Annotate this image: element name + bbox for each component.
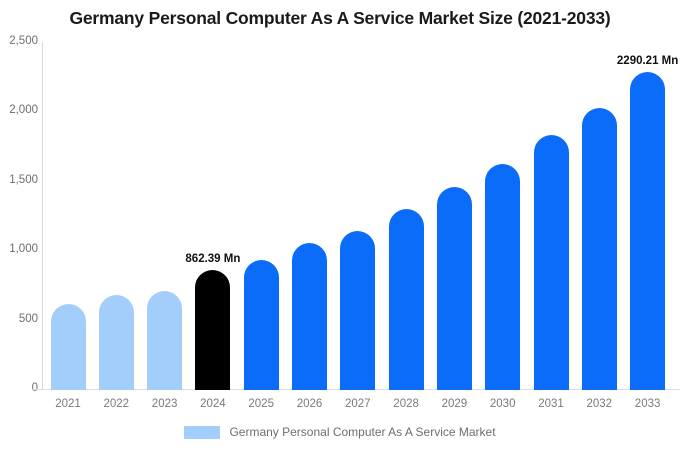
bar-2030[interactable] xyxy=(485,164,520,390)
legend-swatch-icon xyxy=(184,426,220,439)
y-axis-tick-label: 500 xyxy=(2,314,38,326)
y-axis-tick-label: 2,500 xyxy=(2,36,38,48)
bar-slot xyxy=(437,43,472,390)
plot-area: 862.39 Mn2290.21 Mn xyxy=(42,42,680,390)
bar-2021[interactable] xyxy=(51,304,86,390)
bar-slot xyxy=(582,43,617,390)
bar-slot xyxy=(99,43,134,390)
bar-2023[interactable] xyxy=(147,291,182,390)
bar-slot xyxy=(389,43,424,390)
bar-2022[interactable] xyxy=(99,295,134,390)
chart-title: Germany Personal Computer As A Service M… xyxy=(0,8,680,29)
bar-slot xyxy=(534,43,569,390)
bar-2032[interactable] xyxy=(582,108,617,390)
bar-2033[interactable]: 2290.21 Mn xyxy=(630,72,665,390)
x-axis-tick-label: 2033 xyxy=(618,399,678,411)
bar-slot xyxy=(292,43,327,390)
bar-2028[interactable] xyxy=(389,209,424,390)
y-axis-tick-label: 1,500 xyxy=(2,175,38,187)
bar-2029[interactable] xyxy=(437,187,472,390)
chart-legend: Germany Personal Computer As A Service M… xyxy=(0,425,680,439)
bar-2026[interactable] xyxy=(292,243,327,390)
bar-value-label: 2290.21 Mn xyxy=(617,55,678,67)
bar-slot xyxy=(340,43,375,390)
bar-2024[interactable]: 862.39 Mn xyxy=(195,270,230,390)
y-axis-tick-label: 1,000 xyxy=(2,244,38,256)
y-axis-tick-labels: 05001,0001,5002,0002,500 xyxy=(0,0,38,450)
y-axis-tick-label: 2,000 xyxy=(2,105,38,117)
bar-slot xyxy=(485,43,520,390)
bar-slot: 2290.21 Mn xyxy=(630,43,665,390)
bar-slot xyxy=(51,43,86,390)
bar-2027[interactable] xyxy=(340,231,375,390)
bar-chart: Germany Personal Computer As A Service M… xyxy=(0,0,680,450)
bar-slot xyxy=(244,43,279,390)
bar-value-label: 862.39 Mn xyxy=(185,253,240,265)
bar-slot: 862.39 Mn xyxy=(195,43,230,390)
bar-2031[interactable] xyxy=(534,135,569,390)
legend-label: Germany Personal Computer As A Service M… xyxy=(229,425,495,439)
bar-2025[interactable] xyxy=(244,260,279,390)
bar-slot xyxy=(147,43,182,390)
